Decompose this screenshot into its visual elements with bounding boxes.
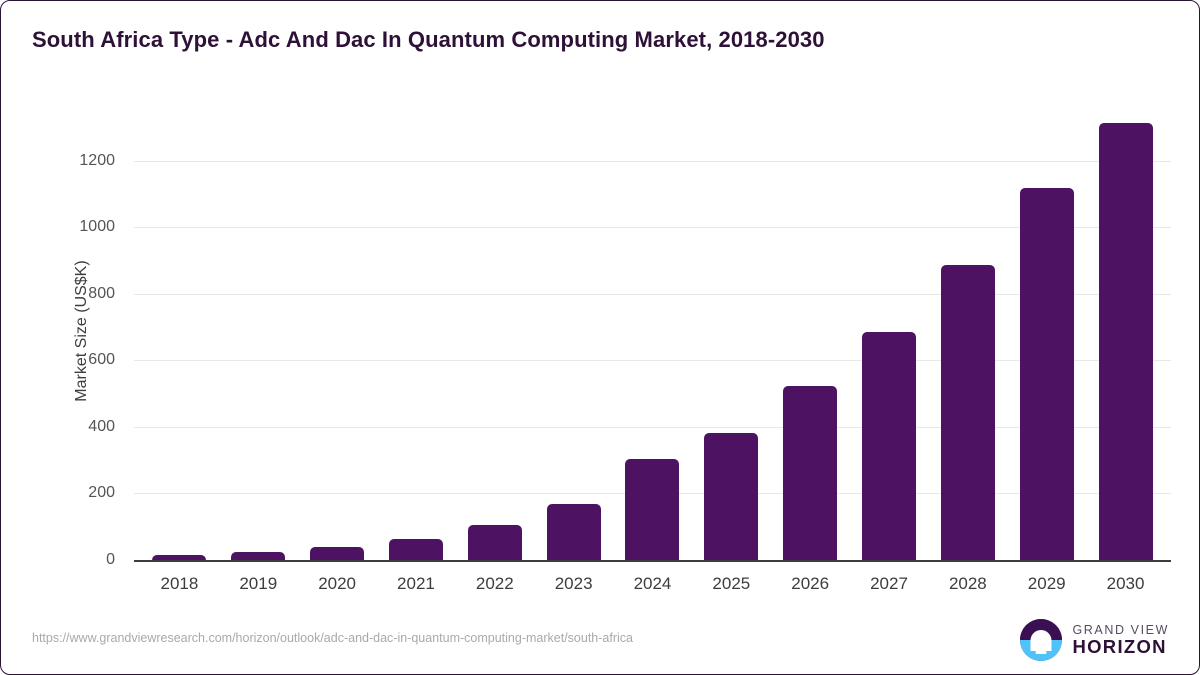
bar-slot: 2024 xyxy=(613,101,692,560)
x-tick-label: 2021 xyxy=(377,574,456,594)
bar-slot: 2022 xyxy=(455,101,534,560)
chart-canvas: South Africa Type - Adc And Dac In Quant… xyxy=(0,0,1200,675)
bar-slot: 2021 xyxy=(377,101,456,560)
bar-2027[interactable] xyxy=(862,332,916,561)
bar-2019[interactable] xyxy=(231,552,285,560)
bar-slot: 2019 xyxy=(219,101,298,560)
x-tick-label: 2030 xyxy=(1086,574,1165,594)
x-tick-label: 2024 xyxy=(613,574,692,594)
bar-slot: 2020 xyxy=(298,101,377,560)
bar-2028[interactable] xyxy=(941,265,995,560)
bar-slot: 2025 xyxy=(692,101,771,560)
bar-slot: 2029 xyxy=(1007,101,1086,560)
plot-area: Market Size (US$K) 020040060080010001200… xyxy=(134,101,1171,560)
bar-slot: 2026 xyxy=(771,101,850,560)
source-url[interactable]: https://www.grandviewresearch.com/horizo… xyxy=(32,631,633,645)
brand-logo: GRAND VIEW HORIZON xyxy=(1020,619,1169,661)
x-axis-line xyxy=(134,560,1171,562)
bar-2020[interactable] xyxy=(310,547,364,560)
y-tick-label: 200 xyxy=(0,484,115,502)
logo-line-upper xyxy=(1033,645,1050,648)
bar-slot: 2027 xyxy=(850,101,929,560)
x-tick-label: 2019 xyxy=(219,574,298,594)
brand-name-bottom: HORIZON xyxy=(1072,637,1169,657)
bar-2026[interactable] xyxy=(783,386,837,560)
bar-slot: 2018 xyxy=(140,101,219,560)
bar-series: 2018201920202021202220232024202520262027… xyxy=(134,101,1171,560)
x-tick-label: 2028 xyxy=(928,574,1007,594)
page-title: South Africa Type - Adc And Dac In Quant… xyxy=(32,27,825,53)
y-tick-label: 800 xyxy=(0,285,115,303)
y-tick-label: 400 xyxy=(0,418,115,436)
y-axis-title: Market Size (US$K) xyxy=(73,260,91,401)
bar-2025[interactable] xyxy=(704,433,758,560)
brand-name-top: GRAND VIEW xyxy=(1072,624,1169,637)
bar-2022[interactable] xyxy=(468,525,522,560)
x-tick-label: 2026 xyxy=(771,574,850,594)
bar-2023[interactable] xyxy=(547,504,601,560)
bar-2018[interactable] xyxy=(152,555,206,560)
bar-slot: 2030 xyxy=(1086,101,1165,560)
x-tick-label: 2025 xyxy=(692,574,771,594)
bar-2024[interactable] xyxy=(625,459,679,560)
horizon-sun-icon xyxy=(1020,619,1062,661)
y-tick-label: 1200 xyxy=(0,152,115,170)
bar-slot: 2023 xyxy=(534,101,613,560)
brand-wordmark: GRAND VIEW HORIZON xyxy=(1072,624,1169,657)
y-tick-label: 600 xyxy=(0,351,115,369)
y-tick-label: 0 xyxy=(0,551,115,569)
x-tick-label: 2022 xyxy=(455,574,534,594)
bar-slot: 2028 xyxy=(928,101,1007,560)
x-tick-label: 2029 xyxy=(1007,574,1086,594)
x-tick-label: 2020 xyxy=(298,574,377,594)
x-tick-label: 2027 xyxy=(850,574,929,594)
logo-line-lower xyxy=(1036,651,1047,654)
bar-2030[interactable] xyxy=(1099,123,1153,560)
bar-2029[interactable] xyxy=(1020,188,1074,560)
y-tick-label: 1000 xyxy=(0,218,115,236)
x-tick-label: 2018 xyxy=(140,574,219,594)
bar-2021[interactable] xyxy=(389,539,443,560)
x-tick-label: 2023 xyxy=(534,574,613,594)
